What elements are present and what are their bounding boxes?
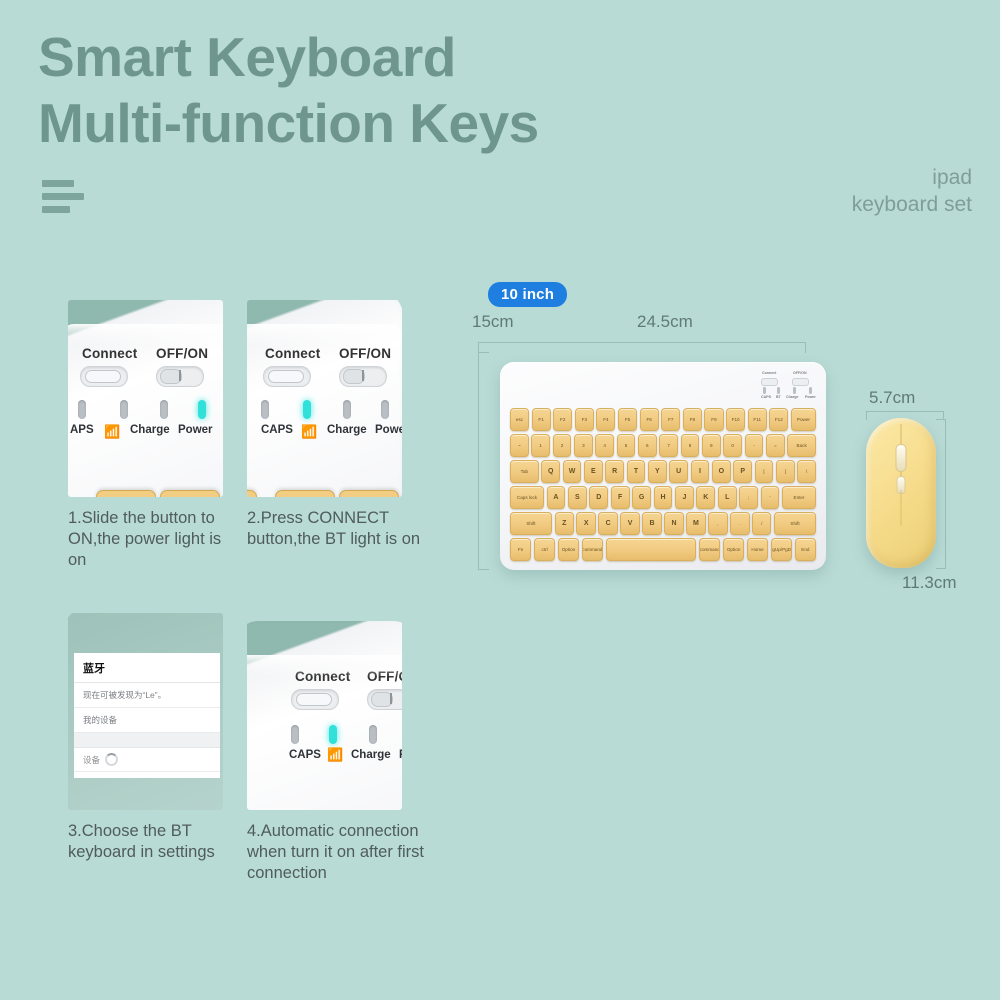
key-8[interactable]: 8 <box>681 434 700 457</box>
key-option[interactable]: Option <box>558 538 579 561</box>
mini-led-bt <box>777 387 780 394</box>
dimension-bracket-keyboard-height <box>478 352 489 570</box>
key-z[interactable]: Z <box>555 512 574 535</box>
key-o[interactable]: O <box>712 460 731 483</box>
key-u[interactable]: U <box>669 460 688 483</box>
key-f7[interactable]: F7 <box>661 408 680 431</box>
key-f1[interactable]: F1 <box>532 408 551 431</box>
mini-power-label: OFF/ON <box>793 371 807 375</box>
key-v[interactable]: V <box>620 512 639 535</box>
wifi-icon: 📶 <box>104 424 120 440</box>
power-switch-label: OFF/ON <box>339 346 391 361</box>
led-label-charge: Charge <box>130 424 170 436</box>
mouse-product-image <box>866 418 936 568</box>
key-enter[interactable]: Enter <box>782 486 816 509</box>
mini-led-caps <box>763 387 766 394</box>
keyboard-row-2: ~1234567890-=Back <box>510 434 816 457</box>
mini-connect-button[interactable] <box>761 378 778 386</box>
step-1-photo: Connect OFF/ON APS 📶 Charge Power 🔒 Dele… <box>68 300 223 497</box>
led-row <box>289 725 402 749</box>
key-f2[interactable]: F2 <box>553 408 572 431</box>
connect-button[interactable] <box>263 366 311 387</box>
led-charge <box>160 400 168 419</box>
led-label-power: Power <box>375 424 402 436</box>
key-delete[interactable]: Delete <box>339 490 399 497</box>
keyboard-width-label: 24.5cm <box>637 312 693 332</box>
key-caps-lock[interactable]: Caps lock <box>510 486 544 509</box>
connect-label: Connect <box>82 346 137 361</box>
led-label-caps: CAPS <box>261 424 293 436</box>
key-d[interactable]: D <box>589 486 608 509</box>
key-option[interactable]: Option <box>723 538 744 561</box>
wifi-icon: 📶 <box>327 747 343 763</box>
dimension-bracket-mouse-height <box>936 419 946 569</box>
led-label-power: Power <box>178 424 213 436</box>
keyboard-closeup: Connect OFF/ON APS 📶 Charge Power 🔒 Dele… <box>68 300 223 497</box>
key-partial[interactable] <box>247 490 257 497</box>
keyboard-row-3: TabQWERTYUIOP[]\ <box>510 460 816 483</box>
step-3-photo: 蓝牙 现在可被发现为“Le”。 我的设备 设备 Bluetooth Keyboa… <box>68 613 223 810</box>
key-fn[interactable]: Fn <box>510 538 531 561</box>
key-f12[interactable]: F12 <box>769 408 788 431</box>
key-shift[interactable]: Shift <box>510 512 552 535</box>
keyboard-key-grid: escF1F2F3F4F5F6F7F8F9F10F11F12Power~1234… <box>510 408 816 560</box>
bluetooth-settings-screen: 蓝牙 现在可被发现为“Le”。 我的设备 设备 Bluetooth Keyboa… <box>74 653 220 778</box>
key-row: 🔒 Delete <box>247 490 402 497</box>
led-caps <box>291 725 299 744</box>
step-2-photo: Connect OFF/ON CAPS 📶 Charge Power 🔒 D <box>247 300 402 497</box>
keyboard-row-6: FnctrlOptioncommandcommandOptionHomePgUp… <box>510 538 816 561</box>
step-4: Connect OFF/ON CAPS 📶 Charge Po 🔊 🔒 <box>247 613 442 884</box>
led-row <box>259 400 402 424</box>
key-f12[interactable]: 🔒 <box>96 490 156 497</box>
mini-led-label-power: Power <box>805 395 816 399</box>
led-charge <box>369 725 377 744</box>
bt-my-devices: 我的设备 <box>74 708 220 733</box>
key-ctrl[interactable]: ctrl <box>534 538 555 561</box>
key-x[interactable]: X <box>576 512 595 535</box>
scroll-wheel[interactable] <box>896 444 907 472</box>
keyboard-row-5: ShiftZXCVBNM,./Shift <box>510 512 816 535</box>
mini-connect-label: Connect <box>762 371 776 375</box>
hamburger-icon <box>42 180 90 220</box>
key-row: 🔒 Delete <box>68 490 223 497</box>
power-switch-label: OFF/ON <box>156 346 208 361</box>
key-command[interactable]: command <box>699 538 720 561</box>
keyboard-row-1: escF1F2F3F4F5F6F7F8F9F10F11F12Power <box>510 408 816 431</box>
key-f9[interactable]: F9 <box>704 408 723 431</box>
keyboard-closeup: Connect OFF/ON CAPS 📶 Charge Power 🔒 D <box>247 300 402 497</box>
key-h[interactable]: H <box>654 486 673 509</box>
bt-devices-row: 设备 <box>74 748 220 772</box>
key-l[interactable]: L <box>718 486 737 509</box>
mini-led-label-bt: BT <box>776 395 781 399</box>
size-badge: 10 inch <box>488 282 567 307</box>
key-f12[interactable]: 🔒 <box>275 490 335 497</box>
key-6[interactable]: 6 <box>638 434 657 457</box>
bt-discoverable: 现在可被发现为“Le”。 <box>74 683 220 708</box>
brand-line-2: keyboard set <box>852 191 972 218</box>
key-shift[interactable]: Shift <box>774 512 816 535</box>
key-home[interactable]: Home <box>747 538 768 561</box>
connect-button[interactable] <box>291 689 339 710</box>
key-f10[interactable]: F10 <box>726 408 745 431</box>
bt-found-device[interactable]: Bluetooth Keyboard <box>74 772 220 778</box>
led-label-charge: Charge <box>351 749 391 761</box>
step-2-caption: 2.Press CONNECT button,the BT light is o… <box>247 508 442 550</box>
key--[interactable]: , <box>708 512 727 535</box>
key--[interactable]: ~ <box>510 434 529 457</box>
key-a[interactable]: A <box>547 486 566 509</box>
key-r[interactable]: R <box>605 460 624 483</box>
key-m[interactable]: M <box>686 512 705 535</box>
mouse-width-label: 5.7cm <box>869 388 915 408</box>
key--[interactable]: = <box>766 434 785 457</box>
key-command[interactable]: command <box>582 538 603 561</box>
led-label-aps: APS <box>70 424 94 436</box>
led-row <box>76 400 223 424</box>
led-label-caps: CAPS <box>289 749 321 761</box>
title-line-2: Multi-function Keys <box>38 90 698 156</box>
power-switch[interactable] <box>367 689 402 710</box>
key-i[interactable]: I <box>691 460 710 483</box>
key--[interactable]: / <box>752 512 771 535</box>
key-3[interactable]: 3 <box>574 434 593 457</box>
step-1: Connect OFF/ON APS 📶 Charge Power 🔒 Dele… <box>68 300 244 571</box>
key-w[interactable]: W <box>563 460 582 483</box>
step-4-photo: Connect OFF/ON CAPS 📶 Charge Po 🔊 🔒 <box>247 613 402 810</box>
power-switch[interactable] <box>339 366 387 387</box>
key-5[interactable]: 5 <box>617 434 636 457</box>
key-end[interactable]: End <box>795 538 816 561</box>
key-f4[interactable]: F4 <box>596 408 615 431</box>
led-label-power: Po <box>399 749 402 761</box>
power-switch[interactable] <box>156 366 204 387</box>
product-infographic: Smart Keyboard Multi-function Keys ipad … <box>0 0 1000 1000</box>
keyboard-row-4: Caps lockASDFGHJKL;'Enter <box>510 486 816 509</box>
key-1[interactable]: 1 <box>531 434 550 457</box>
wifi-icon: 📶 <box>301 424 317 440</box>
key-9[interactable]: 9 <box>702 434 721 457</box>
key-pgup-pgdn[interactable]: PgUp/PgDn <box>771 538 792 561</box>
key--[interactable]: . <box>730 512 749 535</box>
key-f[interactable]: F <box>611 486 630 509</box>
connect-button[interactable] <box>80 366 128 387</box>
step-1-caption: 1.Slide the button to ON,the power light… <box>68 508 244 571</box>
mini-led-label-charge: Charge <box>786 395 798 399</box>
mouse-height-label: 11.3cm <box>902 573 957 593</box>
key-4[interactable]: 4 <box>595 434 614 457</box>
led-bt <box>329 725 337 744</box>
keyboard-product-image: Connect OFF/ON CAPS BT Charge Power escF… <box>500 362 826 570</box>
key--[interactable]: - <box>745 434 764 457</box>
key--[interactable]: \ <box>797 460 816 483</box>
key-tab[interactable]: Tab <box>510 460 539 483</box>
key-g[interactable]: G <box>632 486 651 509</box>
key-f8[interactable]: F8 <box>683 408 702 431</box>
led-power <box>381 400 389 419</box>
led-label-charge: Charge <box>327 424 367 436</box>
page-title: Smart Keyboard Multi-function Keys <box>38 24 698 156</box>
dimension-bracket-keyboard-width <box>478 342 806 353</box>
key--[interactable]: ' <box>761 486 780 509</box>
key-f3[interactable]: F3 <box>575 408 594 431</box>
mini-led-power <box>809 387 812 394</box>
key-k[interactable]: K <box>696 486 715 509</box>
led-caps <box>261 400 269 419</box>
key-0[interactable]: 0 <box>723 434 742 457</box>
key-e[interactable]: E <box>584 460 603 483</box>
key-esc[interactable]: esc <box>510 408 529 431</box>
key--[interactable]: ] <box>776 460 795 483</box>
key-j[interactable]: J <box>675 486 694 509</box>
led-power <box>198 400 206 419</box>
step-3: 蓝牙 现在可被发现为“Le”。 我的设备 设备 Bluetooth Keyboa… <box>68 613 244 863</box>
loading-spinner-icon <box>105 753 118 766</box>
mini-led-charge <box>793 387 796 394</box>
key-c[interactable]: C <box>598 512 617 535</box>
key-s[interactable]: S <box>568 486 587 509</box>
brand-label: ipad keyboard set <box>852 164 972 218</box>
mini-power-switch[interactable] <box>792 378 809 386</box>
key-power[interactable]: Power <box>791 408 816 431</box>
bt-devices-label: 设备 <box>83 754 100 766</box>
keyboard-control-panel: Connect OFF/ON CAPS BT Charge Power <box>761 371 817 399</box>
key-p[interactable]: P <box>733 460 752 483</box>
connect-label: Connect <box>295 669 350 684</box>
key-b[interactable]: B <box>642 512 661 535</box>
key-f11[interactable]: F11 <box>748 408 767 431</box>
led-charge <box>343 400 351 419</box>
brand-line-1: ipad <box>852 164 972 191</box>
connect-label: Connect <box>265 346 320 361</box>
mouse-seam <box>901 490 902 526</box>
bt-title: 蓝牙 <box>74 653 220 683</box>
step-2: Connect OFF/ON CAPS 📶 Charge Power 🔒 D <box>247 300 442 550</box>
keyboard-height-label: 15cm <box>472 312 514 332</box>
key-space[interactable] <box>606 538 697 561</box>
title-line-1: Smart Keyboard <box>38 26 456 88</box>
key-delete[interactable]: Delete <box>160 490 220 497</box>
led-bt <box>120 400 128 419</box>
power-switch-label: OFF/ON <box>367 669 402 684</box>
mini-led-label-caps: CAPS <box>761 395 771 399</box>
key-y[interactable]: Y <box>648 460 667 483</box>
keyboard-closeup: Connect OFF/ON CAPS 📶 Charge Po 🔊 🔒 <box>247 621 402 810</box>
step-4-caption: 4.Automatic connection when turn it on a… <box>247 821 442 884</box>
key-t[interactable]: T <box>627 460 646 483</box>
led-bt <box>303 400 311 419</box>
key-7[interactable]: 7 <box>659 434 678 457</box>
key-n[interactable]: N <box>664 512 683 535</box>
step-3-caption: 3.Choose the BT keyboard in settings <box>68 821 244 863</box>
led-aps <box>78 400 86 419</box>
key-f6[interactable]: F6 <box>640 408 659 431</box>
key-q[interactable]: Q <box>541 460 560 483</box>
key-back[interactable]: Back <box>787 434 816 457</box>
key--[interactable]: [ <box>755 460 774 483</box>
key-2[interactable]: 2 <box>553 434 572 457</box>
key--[interactable]: ; <box>739 486 758 509</box>
key-f5[interactable]: F5 <box>618 408 637 431</box>
